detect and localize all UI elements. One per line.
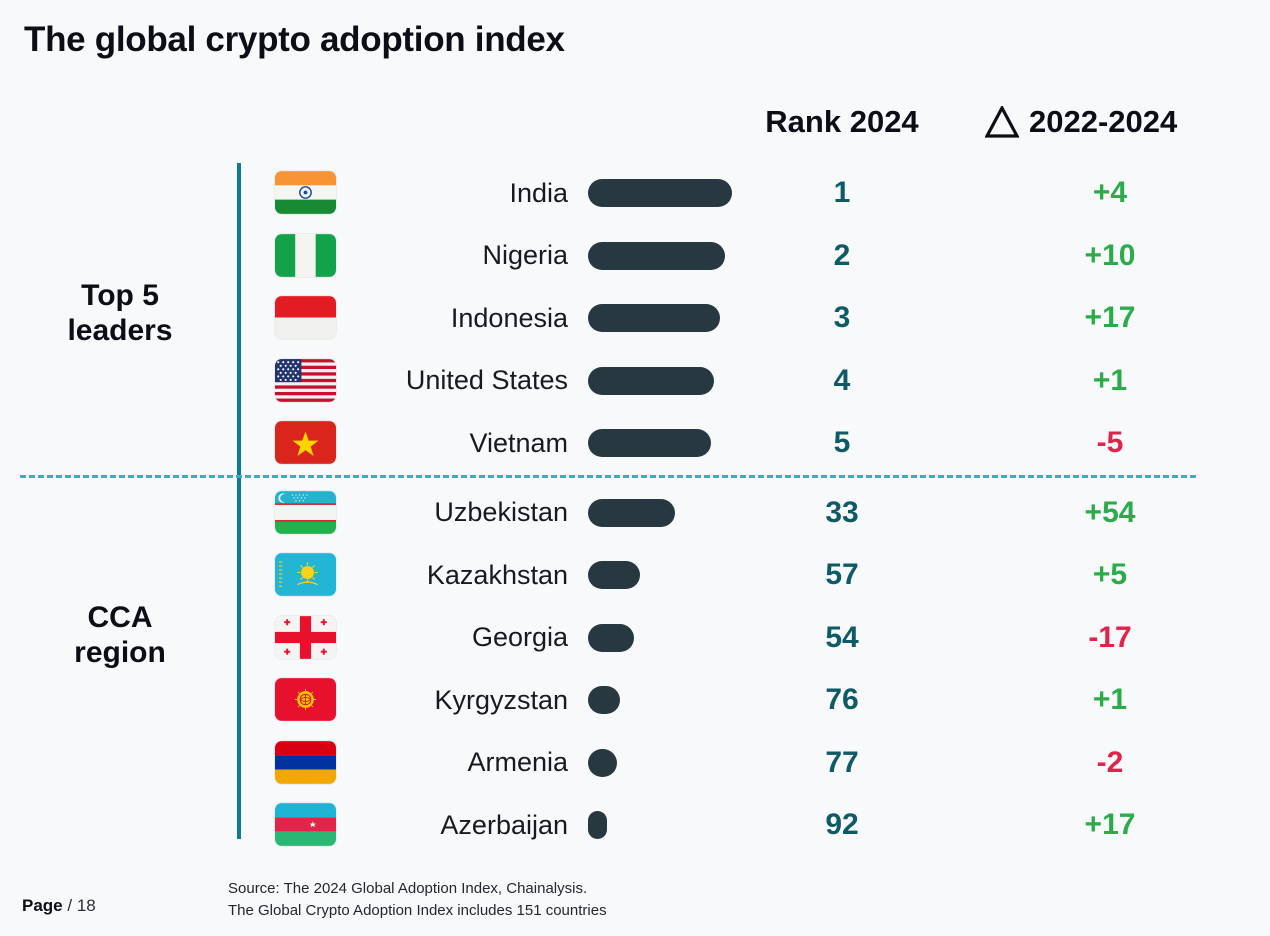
rank-value: 92 [748,794,936,856]
adoption-bar [588,624,634,652]
flag-kazakhstan-icon [275,553,336,596]
rank-value: 5 [748,412,936,474]
rank-value: 2 [748,225,936,287]
header-delta-2022-2024: 2022-2024 [985,104,1177,140]
adoption-bar [588,561,640,589]
rank-value: 76 [748,669,936,731]
flag-armenia-icon [275,741,336,784]
delta-value: +1 [1010,350,1210,412]
footer-source: Source: The 2024 Global Adoption Index, … [228,878,607,922]
adoption-bar [588,499,675,527]
delta-value: -17 [1010,607,1210,669]
flag-uzbekistan-icon [275,491,336,534]
section-dashed-divider [20,475,1196,478]
delta-value: -2 [1010,732,1210,794]
adoption-bar [588,304,720,332]
adoption-bar-track [588,162,748,224]
country-name: Kyrgyzstan [350,669,568,731]
country-name: Nigeria [350,225,568,287]
delta-value: +54 [1010,482,1210,544]
country-name: Georgia [350,607,568,669]
footer-page-value: / 18 [67,896,95,915]
adoption-bar-track [588,607,748,669]
delta-value: -5 [1010,412,1210,474]
country-name: Vietnam [350,412,568,474]
flag-united-states-icon [275,359,336,402]
flag-vietnam-icon [275,421,336,464]
adoption-bar-track [588,350,748,412]
table-row: Armenia77-2 [0,732,1270,794]
adoption-bar [588,429,711,457]
delta-value: +17 [1010,287,1210,349]
triangle-delta-icon [985,106,1019,138]
footer-page-label: Page [22,896,63,915]
adoption-bar-track [588,669,748,731]
adoption-bar-track [588,225,748,287]
adoption-bar-track [588,412,748,474]
table-row: United States4+1 [0,350,1270,412]
page-title: The global crypto adoption index [24,20,565,60]
flag-india-icon [275,171,336,214]
column-headers: Rank 2024 2022-2024 [0,104,1270,152]
adoption-bar-track [588,794,748,856]
rank-value: 4 [748,350,936,412]
adoption-bar-track [588,287,748,349]
rank-value: 1 [748,162,936,224]
adoption-bar-track [588,544,748,606]
adoption-bar [588,686,620,714]
adoption-bar [588,179,732,207]
table-row: India1+4 [0,162,1270,224]
delta-value: +10 [1010,225,1210,287]
adoption-bar [588,242,725,270]
flag-azerbaijan-icon [275,803,336,846]
country-name: India [350,162,568,224]
country-name: Uzbekistan [350,482,568,544]
country-name: Azerbaijan [350,794,568,856]
table-row: Azerbaijan92+17 [0,794,1270,856]
adoption-bar [588,749,617,777]
header-delta-label: 2022-2024 [1029,104,1177,140]
country-name: Kazakhstan [350,544,568,606]
flag-nigeria-icon [275,234,336,277]
adoption-bar [588,367,714,395]
flag-kyrgyzstan-icon [275,678,336,721]
table-row: Nigeria2+10 [0,225,1270,287]
table-row: Uzbekistan33+54 [0,482,1270,544]
header-rank-2024: Rank 2024 [748,104,936,140]
table-row: Kazakhstan57+5 [0,544,1270,606]
adoption-bar-track [588,732,748,794]
table-row: Vietnam5-5 [0,412,1270,474]
flag-georgia-icon [275,616,336,659]
footer-page-number: Page / 18 [22,896,96,916]
delta-value: +4 [1010,162,1210,224]
country-name: Armenia [350,732,568,794]
rank-value: 33 [748,482,936,544]
flag-indonesia-icon [275,296,336,339]
table-row: Kyrgyzstan76+1 [0,669,1270,731]
table-row: Indonesia3+17 [0,287,1270,349]
delta-value: +5 [1010,544,1210,606]
delta-value: +17 [1010,794,1210,856]
rank-value: 57 [748,544,936,606]
delta-value: +1 [1010,669,1210,731]
footer-source-line1: Source: The 2024 Global Adoption Index, … [228,878,607,900]
country-name: United States [350,350,568,412]
footer-source-line2: The Global Crypto Adoption Index include… [228,900,607,922]
rank-value: 54 [748,607,936,669]
adoption-bar-track [588,482,748,544]
rank-value: 3 [748,287,936,349]
table-row: Georgia54-17 [0,607,1270,669]
country-name: Indonesia [350,287,568,349]
adoption-bar [588,811,607,839]
rank-value: 77 [748,732,936,794]
